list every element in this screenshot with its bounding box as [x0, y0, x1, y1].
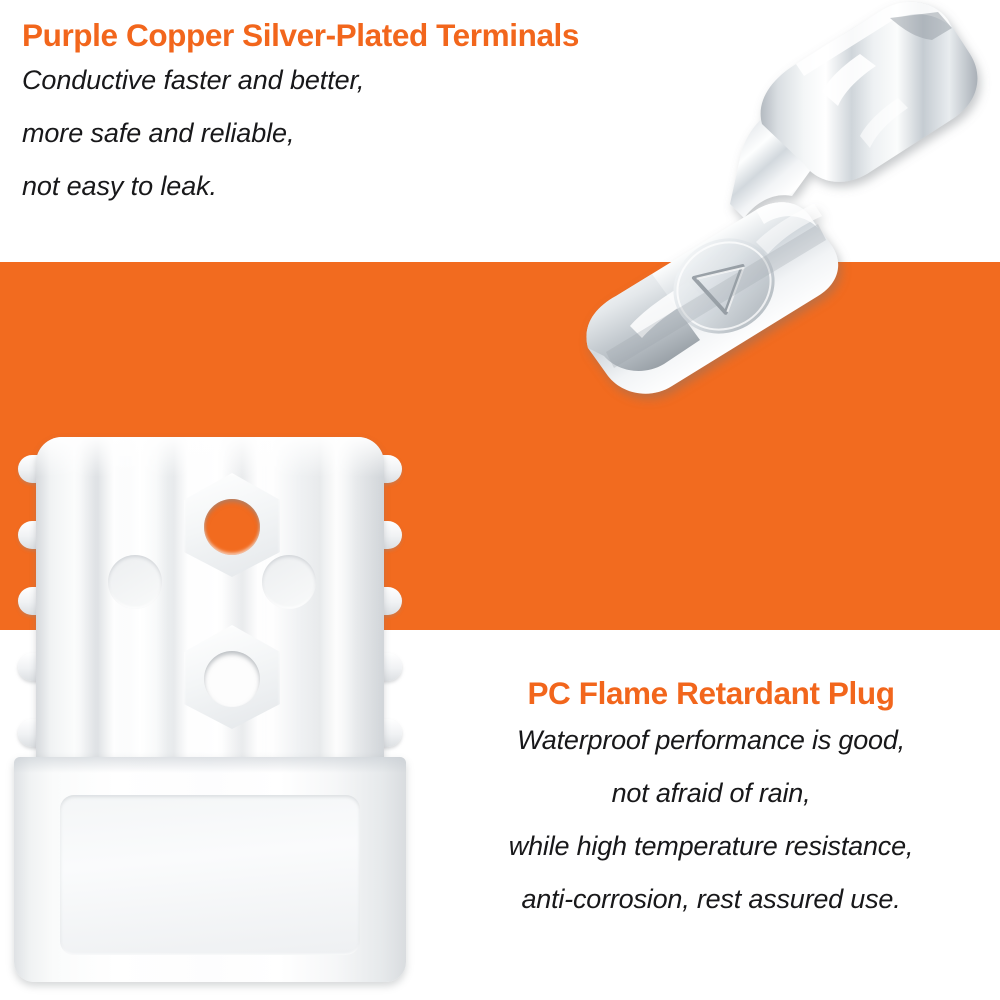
- plug-bolt-hole-top: [204, 499, 260, 555]
- infographic-canvas: Purple Copper Silver-Plated Terminals Co…: [0, 0, 1000, 1000]
- top-feature-text-block: Purple Copper Silver-Plated Terminals Co…: [22, 18, 542, 226]
- bottom-feature-heading: PC Flame Retardant Plug: [430, 676, 992, 711]
- top-feature-description: Conductive faster and better, more safe …: [22, 67, 542, 200]
- plug-side-dimple-right: [262, 555, 316, 609]
- plug-flange-panel: [60, 795, 360, 955]
- bottom-feature-line-4: anti-corrosion, rest assured use.: [430, 886, 992, 913]
- top-feature-line-3: not easy to leak.: [22, 173, 542, 200]
- plug-bolt-hole-bottom: [204, 651, 260, 707]
- plug-upper-body: [36, 437, 384, 767]
- top-feature-line-2: more safe and reliable,: [22, 120, 542, 147]
- bottom-feature-line-3: while high temperature resistance,: [430, 833, 992, 860]
- plug-flange-edge: [14, 757, 406, 773]
- bottom-feature-text-block: PC Flame Retardant Plug Waterproof perfo…: [430, 676, 992, 939]
- bottom-feature-line-2: not afraid of rain,: [430, 780, 992, 807]
- pc-flame-retardant-plug-image: [14, 437, 406, 982]
- top-feature-heading: Purple Copper Silver-Plated Terminals: [22, 18, 542, 53]
- bottom-feature-description: Waterproof performance is good, not afra…: [430, 727, 992, 913]
- top-feature-line-1: Conductive faster and better,: [22, 67, 542, 94]
- bottom-feature-line-1: Waterproof performance is good,: [430, 727, 992, 754]
- plug-lower-flange: [14, 757, 406, 982]
- plug-side-dimple-left: [108, 555, 162, 609]
- plug-top-highlight: [36, 437, 384, 477]
